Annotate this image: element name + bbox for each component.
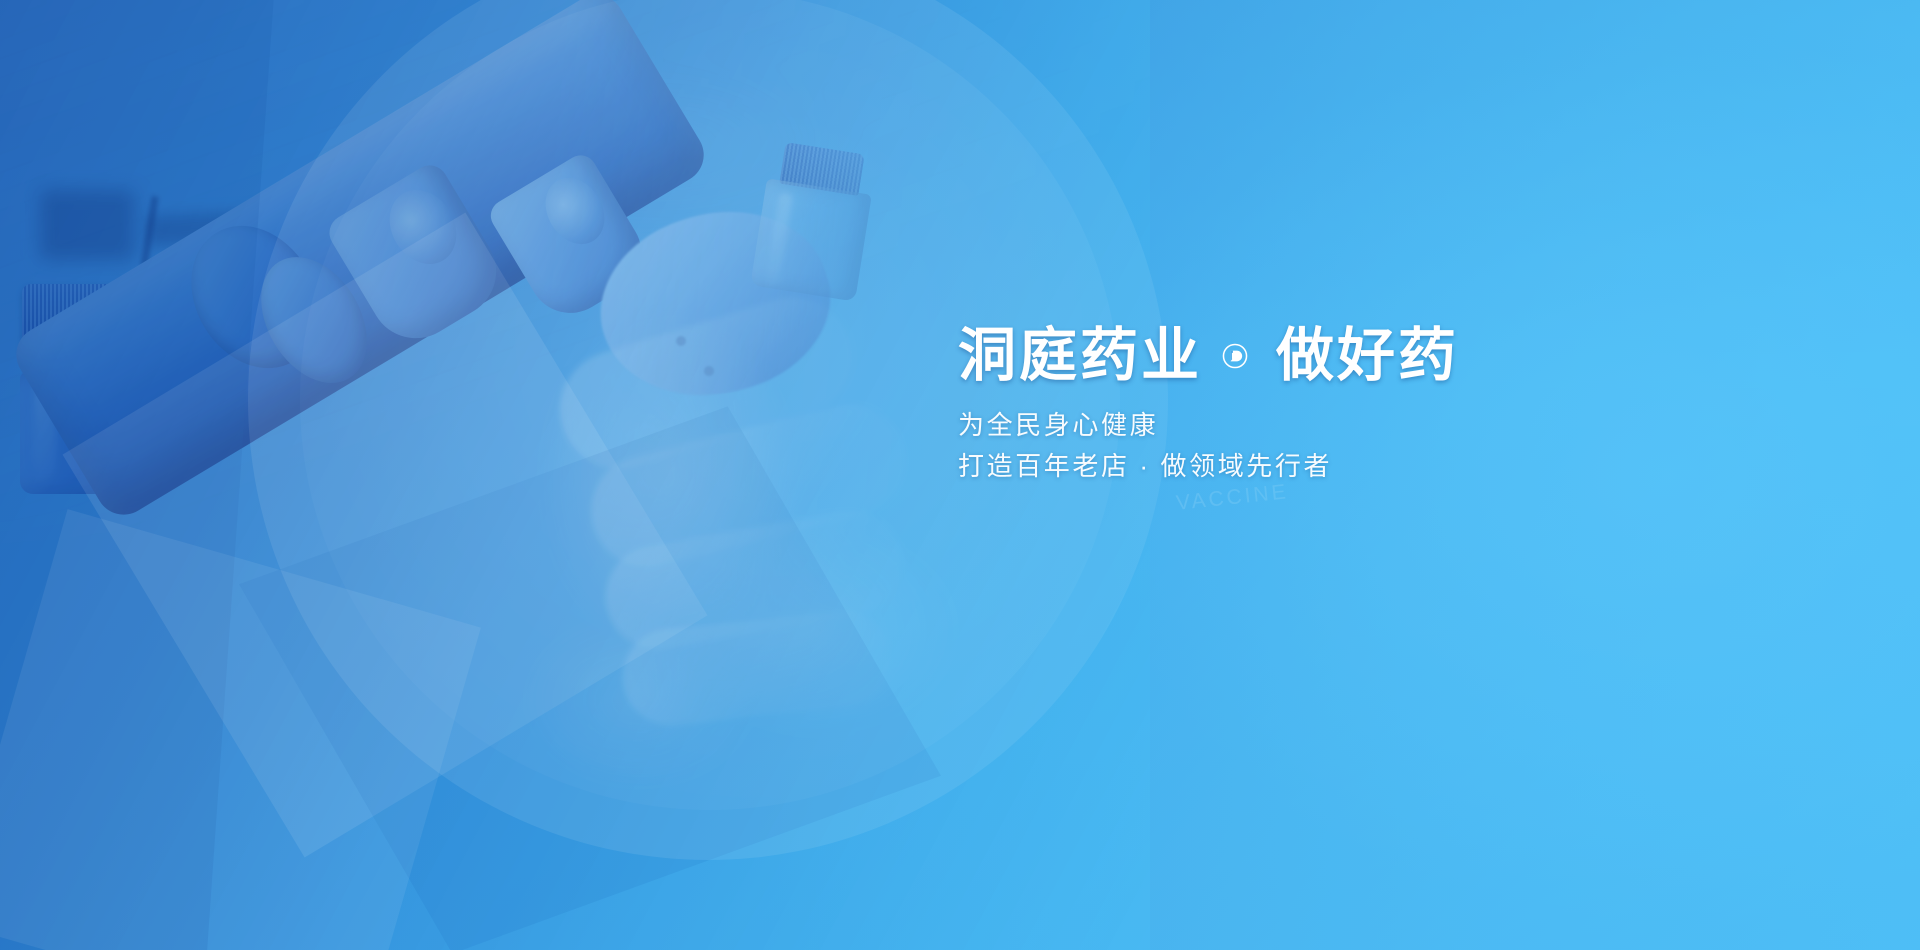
- headline-brand-name: 洞庭药业: [958, 326, 1202, 387]
- hero-headline: 洞庭药业 做好药: [958, 326, 1459, 387]
- headline-slogan: 做好药: [1276, 326, 1459, 387]
- hero-subtitle: 为全民身心健康 打造百年老店 · 做领域先行者: [958, 405, 1459, 487]
- hero-banner: VACCINE 洞庭药业 做好药 为全民身心健康 打造百年老店 · 做领域先行者: [0, 0, 1920, 950]
- hero-copy: 洞庭药业 做好药 为全民身心健康 打造百年老店 · 做领域先行者: [958, 326, 1459, 487]
- dongting-circle-logo-icon: [1222, 343, 1248, 369]
- subtitle-line-1: 为全民身心健康: [958, 405, 1459, 446]
- subtitle-line-2: 打造百年老店 · 做领域先行者: [958, 446, 1459, 487]
